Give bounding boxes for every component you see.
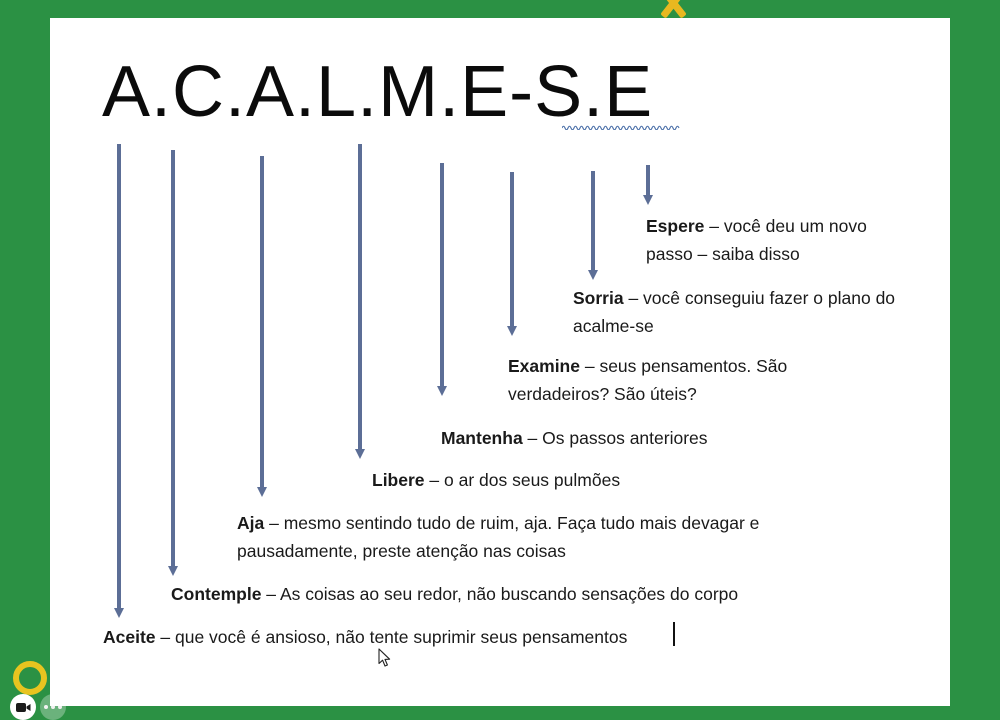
arrow-shaft [260, 156, 264, 488]
step-dash: – [264, 513, 283, 533]
step-line: Sorria – você conseguiu fazer o plano do… [573, 284, 903, 340]
video-camera-icon [16, 702, 31, 713]
step-dash: – [156, 627, 175, 647]
step-description: o ar dos seus pulmões [444, 470, 620, 490]
step-keyword: Contemple [171, 584, 261, 604]
step-dash: – [624, 288, 643, 308]
connector-arrow [590, 171, 596, 280]
step-line: Aceite – que você é ansioso, não tente s… [103, 623, 743, 651]
arrow-head-icon [257, 487, 267, 497]
shared-slide[interactable]: A.C.A.L.M.E-S.E Espere – você deu um nov… [50, 18, 950, 706]
connector-arrow [116, 144, 122, 618]
step-description: As coisas ao seu redor, não buscando sen… [280, 584, 738, 604]
step-dash: – [580, 356, 599, 376]
step-keyword: Sorria [573, 288, 624, 308]
connector-arrow [170, 150, 176, 576]
arrow-shaft [646, 165, 650, 196]
connector-arrow [509, 172, 515, 336]
step-description: que você é ansioso, não tente suprimir s… [175, 627, 627, 647]
video-camera-button[interactable] [10, 694, 36, 720]
arrow-head-icon [355, 449, 365, 459]
step-dash: – [425, 470, 444, 490]
spellcheck-underline [562, 124, 680, 130]
connector-arrow [357, 144, 363, 459]
arrow-head-icon [114, 608, 124, 618]
step-dash: – [704, 216, 723, 236]
text-caret [673, 622, 675, 646]
step-keyword: Aceite [103, 627, 156, 647]
step-keyword: Mantenha [441, 428, 523, 448]
screen: A.C.A.L.M.E-S.E Espere – você deu um nov… [0, 0, 1000, 718]
dot-icon [44, 705, 48, 709]
x-marker-icon [656, 0, 690, 20]
connector-arrow [259, 156, 265, 497]
step-dash: – [261, 584, 280, 604]
connector-arrow [439, 163, 445, 396]
step-keyword: Examine [508, 356, 580, 376]
step-description: mesmo sentindo tudo de ruim, aja. Faça t… [237, 513, 764, 561]
step-line: Contemple – As coisas ao seu redor, não … [171, 580, 811, 608]
step-keyword: Aja [237, 513, 264, 533]
step-keyword: Espere [646, 216, 704, 236]
arrow-shaft [117, 144, 121, 609]
arrow-head-icon [168, 566, 178, 576]
step-keyword: Libere [372, 470, 425, 490]
step-line: Mantenha – Os passos anteriores [441, 424, 761, 452]
arrow-shaft [171, 150, 175, 567]
arrow-head-icon [437, 386, 447, 396]
step-description: Os passos anteriores [542, 428, 707, 448]
step-dash: – [523, 428, 542, 448]
arrow-head-icon [588, 270, 598, 280]
arrow-head-icon [643, 195, 653, 205]
step-line: Aja – mesmo sentindo tudo de ruim, aja. … [237, 509, 822, 565]
connector-arrow [645, 165, 651, 205]
avatar-ring [13, 661, 47, 695]
arrow-shaft [440, 163, 444, 387]
arrow-head-icon [507, 326, 517, 336]
mouse-pointer-icon [378, 648, 392, 668]
arrow-shaft [510, 172, 514, 327]
step-line: Espere – você deu um novo passo – saiba … [646, 212, 906, 268]
step-line: Libere – o ar dos seus pulmões [372, 466, 672, 494]
arrow-shaft [358, 144, 362, 450]
arrow-shaft [591, 171, 595, 271]
page-title: A.C.A.L.M.E-S.E [102, 56, 653, 128]
step-line: Examine – seus pensamentos. São verdadei… [508, 352, 818, 408]
